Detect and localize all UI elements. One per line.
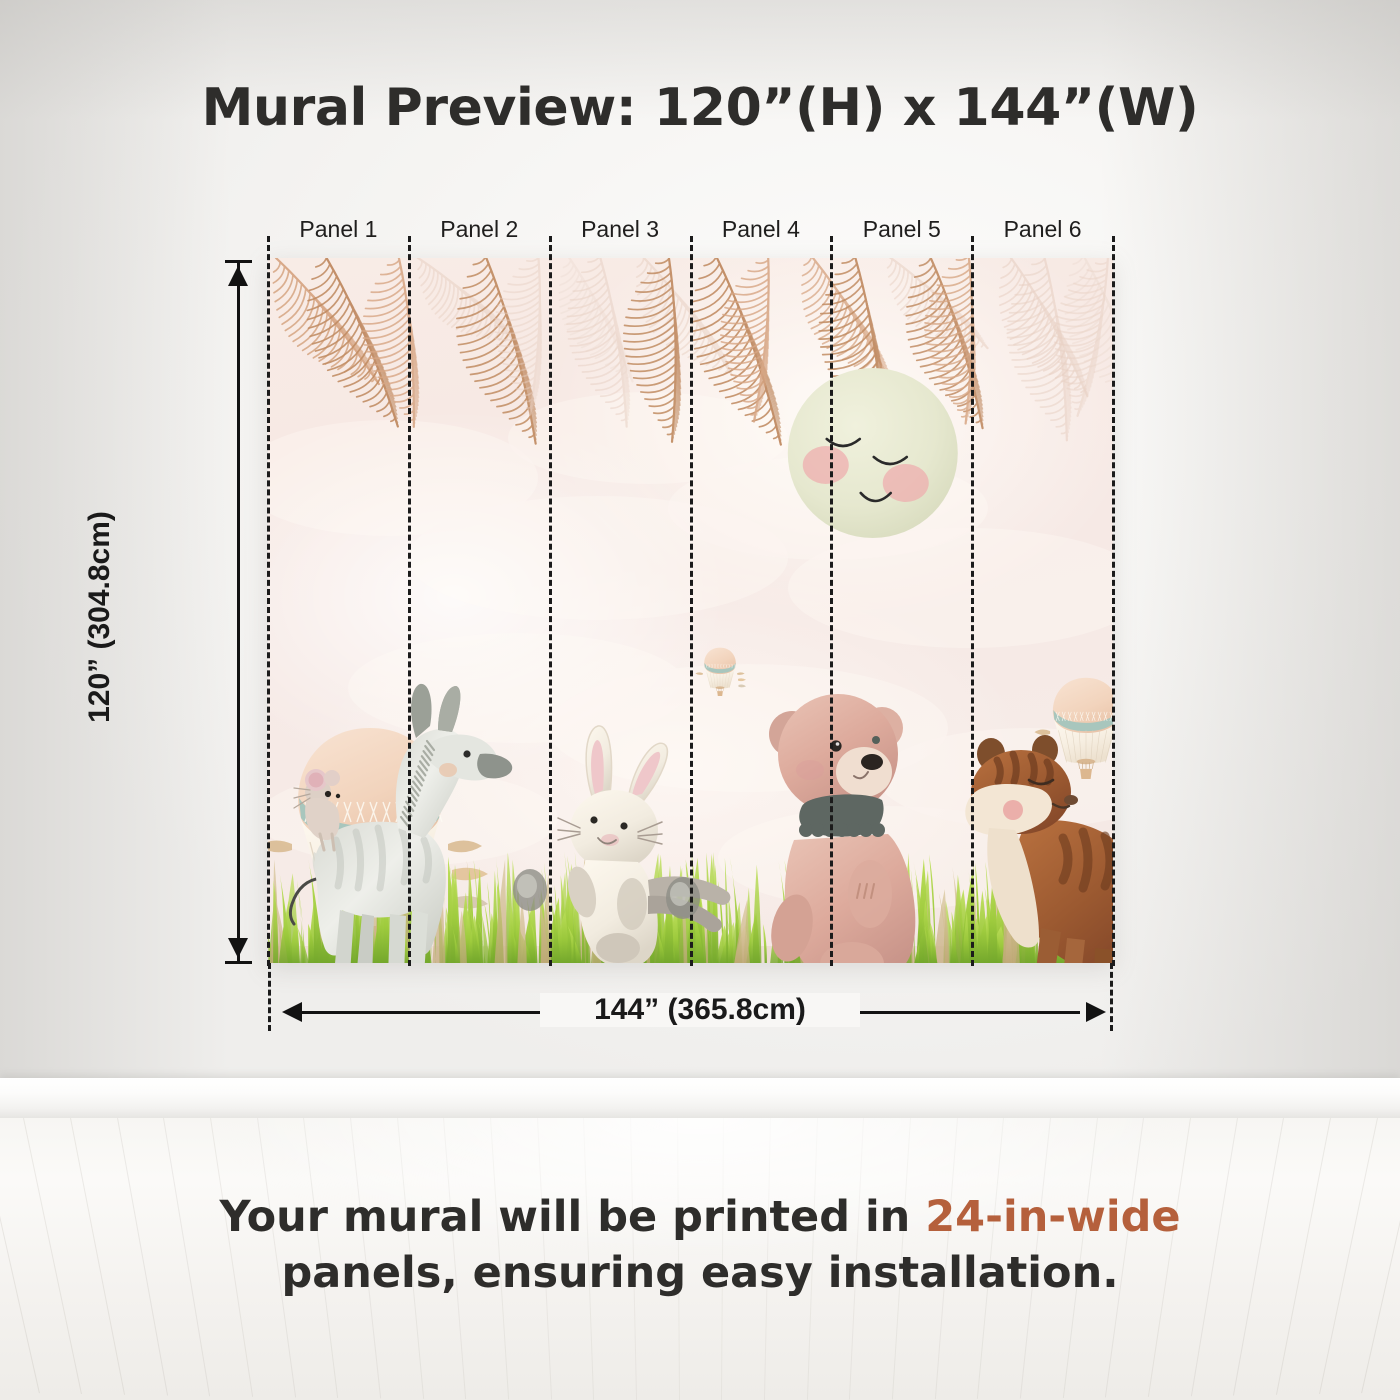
height-tick-bottom [225,961,252,964]
width-dimension-label: 144” (365.8cm) [540,993,860,1027]
panel-divider-3 [690,236,693,966]
width-arrow-right-icon [1086,1002,1106,1022]
width-guide-right [1110,963,1113,1031]
caption-line1-pre: Your mural will be printed in [219,1192,925,1242]
sleeping-moon [788,368,958,538]
panel-label-6: Panel 6 [973,216,1113,243]
height-arrow-up-icon [228,266,248,286]
baseboard [0,1078,1400,1120]
caption-line2: panels, ensuring easy installation. [281,1248,1118,1298]
wall-shadow-right [1100,0,1400,1086]
height-dimension-label: 120” (304.8cm) [83,447,117,787]
height-arrow-down-icon [228,938,248,958]
caption-accent: 24-in-wide [925,1192,1180,1242]
mural-preview-screenshot: Mural Preview: 120”(H) x 144”(W) Panel 1… [0,0,1400,1400]
ground-pebble-1 [513,869,547,911]
footer-caption: Your mural will be printed in 24-in-wide… [0,1190,1400,1302]
width-guide-left [268,963,271,1031]
panel-divider-6 [1112,236,1115,966]
panel-divider-1 [408,236,411,966]
panel-label-3: Panel 3 [550,216,690,243]
panel-label-5: Panel 5 [832,216,972,243]
page-title: Mural Preview: 120”(H) x 144”(W) [0,78,1400,138]
panel-label-2: Panel 2 [409,216,549,243]
panel-label-1: Panel 1 [268,216,408,243]
panel-divider-4 [830,236,833,966]
height-dimension-line [237,262,240,962]
panel-divider-2 [549,236,552,966]
ground-pebble-2 [666,877,700,919]
panel-divider-5 [971,236,974,966]
panel-divider-0 [267,236,270,966]
panel-label-4: Panel 4 [691,216,831,243]
